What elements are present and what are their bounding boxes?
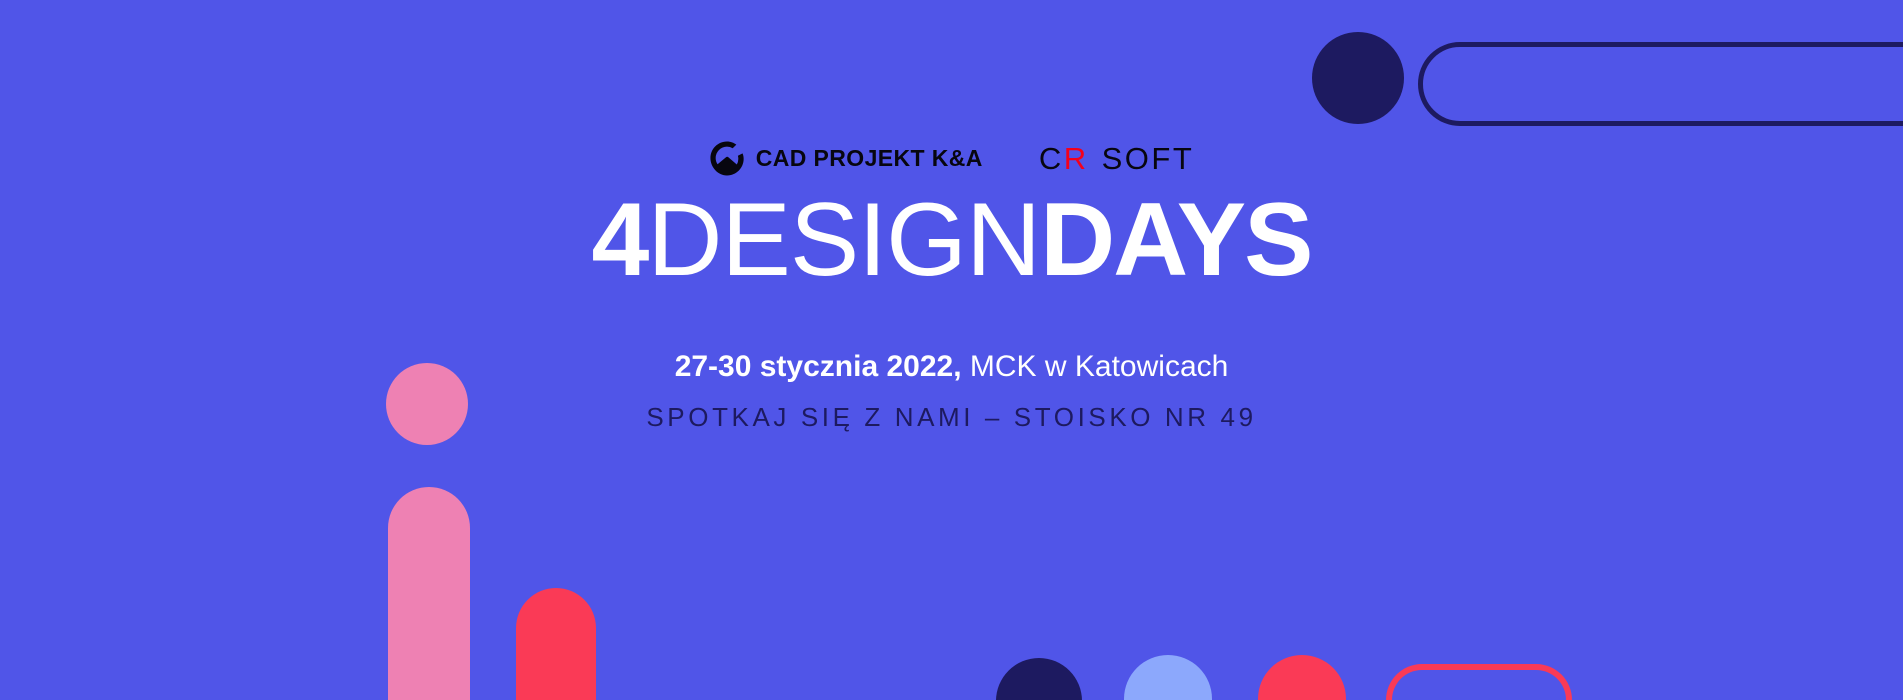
cad-projekt-wordmark: CAD PROJEKT K&A (756, 147, 983, 170)
banner-content: CAD PROJEKT K&A C R SOFT 4DESIGNDAYS 27-… (0, 0, 1903, 700)
event-title: 4DESIGNDAYS (0, 188, 1903, 292)
cad-projekt-logo-mark-icon (709, 140, 745, 176)
partner-logo-row: CAD PROJEKT K&A C R SOFT (0, 140, 1903, 176)
event-banner: CAD PROJEKT K&A C R SOFT 4DESIGNDAYS 27-… (0, 0, 1903, 700)
title-word-design: DESIGN (647, 182, 1040, 298)
cr-soft-letter-c: C (1039, 143, 1064, 174)
title-word-days: DAYS (1040, 182, 1311, 298)
cr-soft-logo[interactable]: C R SOFT (1039, 143, 1194, 174)
cad-projekt-logo[interactable]: CAD PROJEKT K&A (709, 140, 983, 176)
cr-soft-letter-r: R (1064, 143, 1089, 174)
event-date-venue-line: 27-30 stycznia 2022, MCK w Katowicach (0, 352, 1903, 382)
event-venue: MCK w Katowicach (962, 350, 1229, 383)
title-number-4: 4 (592, 182, 648, 298)
event-dates: 27-30 stycznia 2022, (675, 350, 962, 383)
cr-soft-word: SOFT (1102, 143, 1195, 174)
stand-invitation-line: SPOTKAJ SIĘ Z NAMI – STOISKO NR 49 (0, 404, 1903, 430)
